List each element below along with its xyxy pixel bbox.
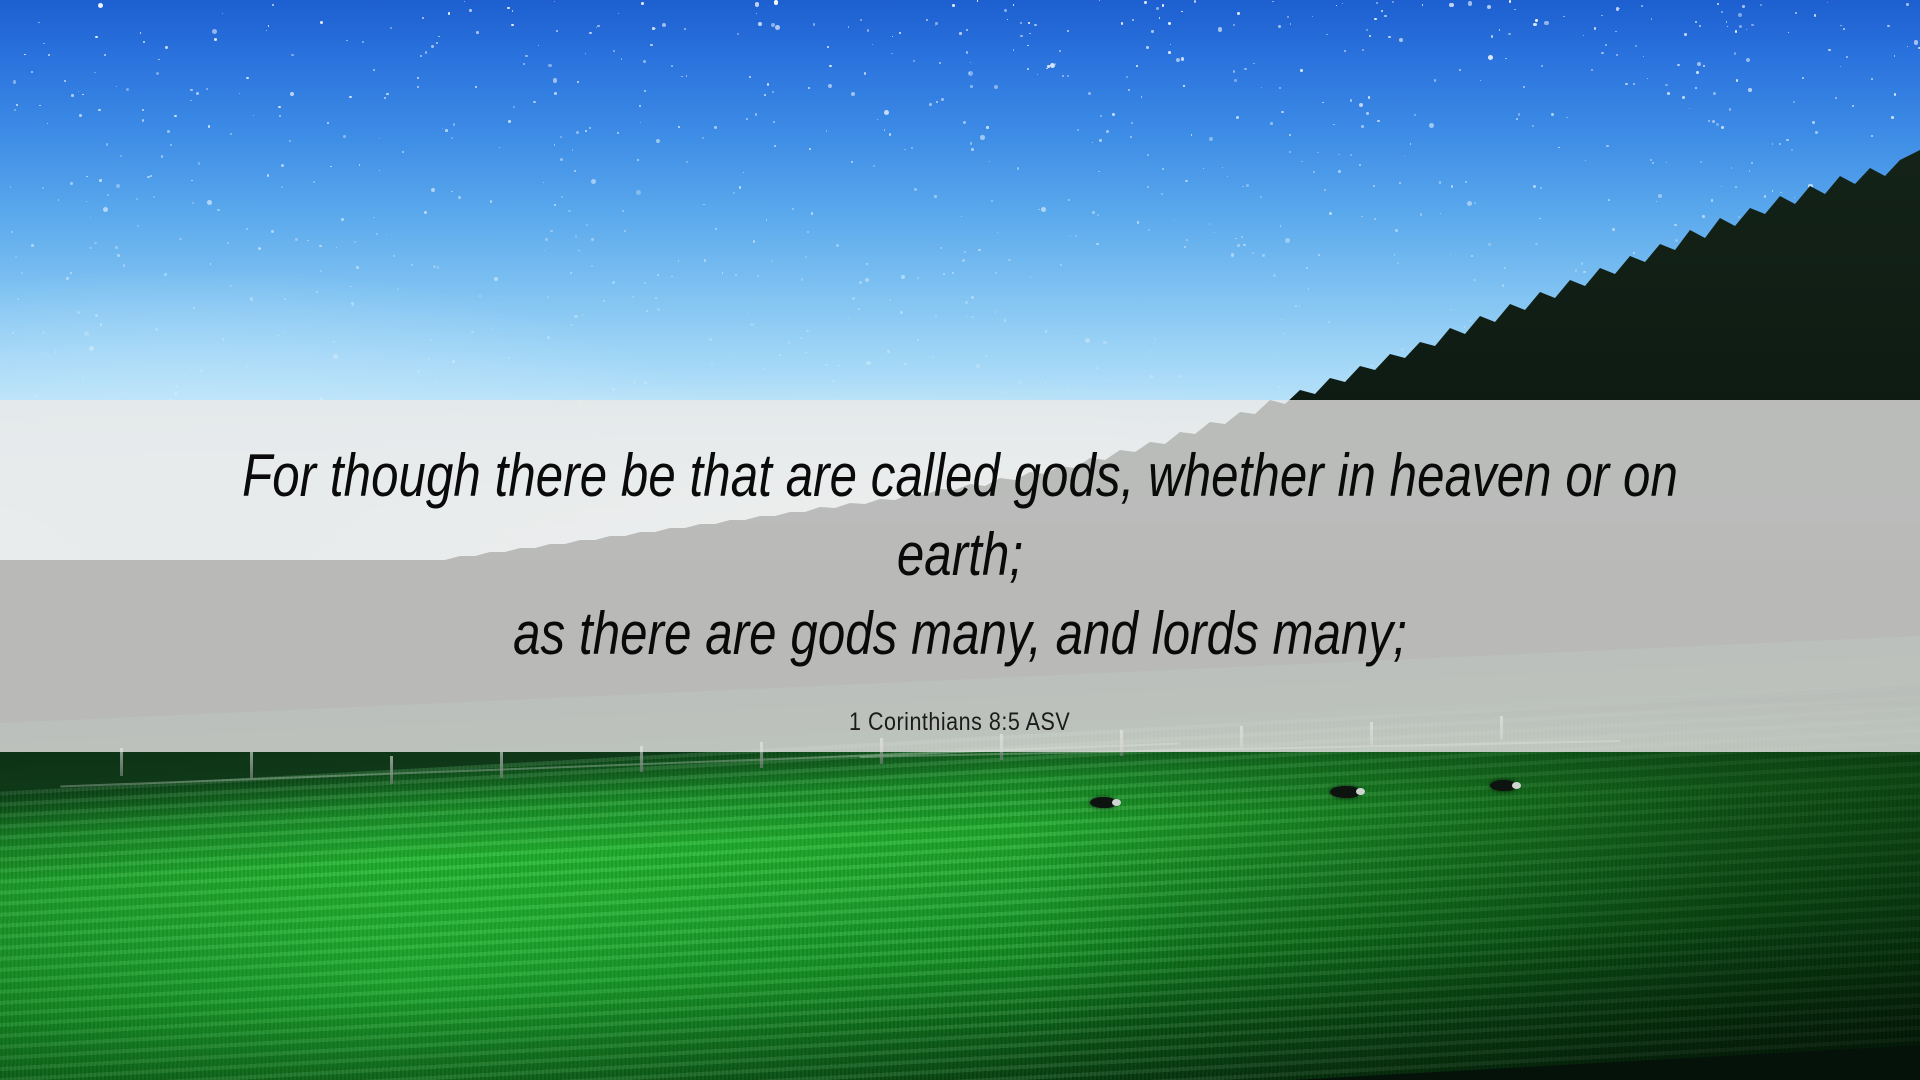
cow bbox=[1490, 780, 1516, 791]
verse-overlay-band: For though there be that are called gods… bbox=[0, 400, 1920, 752]
verse-citation: 1 Corinthians 8:5 ASV bbox=[849, 708, 1070, 737]
verse-wallpaper: For though there be that are called gods… bbox=[0, 0, 1920, 1080]
cow bbox=[1330, 786, 1360, 798]
cow bbox=[1090, 797, 1116, 808]
verse-text: For though there be that are called gods… bbox=[197, 436, 1722, 674]
